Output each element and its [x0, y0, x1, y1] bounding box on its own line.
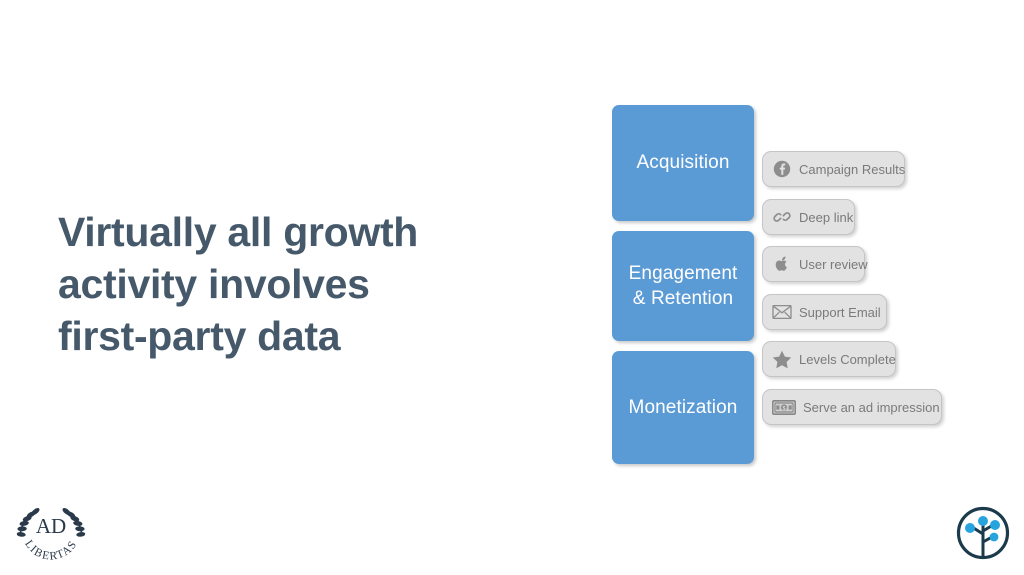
link-icon [772, 207, 792, 227]
stage-label-engagement-line-1: Engagement [629, 261, 738, 286]
envelope-icon [772, 302, 792, 322]
ad-libertas-wordmark-bottom: LIBERTAS [22, 538, 80, 562]
event-pill-label-support-email: Support Email [799, 306, 881, 319]
event-pill-levels-complete: Levels Complete [762, 341, 896, 377]
ad-libertas-logo: AD LIBERTAS [10, 500, 92, 564]
star-icon [772, 349, 792, 369]
event-pill-deep-link: Deep link [762, 199, 855, 235]
apple-icon [772, 254, 792, 274]
stage-box-monetization: Monetization [612, 351, 754, 464]
ad-libertas-wordmark-top: AD [36, 514, 66, 538]
event-pill-campaign-results: Campaign Results [762, 151, 905, 187]
tree-node-top [978, 516, 988, 526]
tree-node-left [965, 523, 975, 533]
event-pill-label-ad-impression: Serve an ad impression [803, 401, 940, 414]
growth-funnel-diagram: Acquisition Engagement & Retention Monet… [0, 0, 1024, 575]
event-pill-user-review: User review [762, 246, 865, 282]
facebook-icon [772, 159, 792, 179]
event-pill-label-levels-complete: Levels Complete [799, 353, 896, 366]
event-pill-support-email: Support Email [762, 294, 887, 330]
event-pill-label-deep-link: Deep link [799, 211, 853, 224]
event-pill-label-user-review: User review [799, 258, 868, 271]
stage-box-acquisition: Acquisition [612, 105, 754, 221]
event-pill-ad-impression: $ Serve an ad impression [762, 389, 942, 425]
stage-box-engagement: Engagement & Retention [612, 231, 754, 341]
stage-label-acquisition: Acquisition [637, 150, 730, 175]
banknote-icon: $ [772, 397, 796, 417]
svg-text:$: $ [783, 406, 786, 412]
tree-mark-logo [954, 504, 1012, 562]
event-pill-label-campaign-results: Campaign Results [799, 163, 905, 176]
stage-label-monetization: Monetization [629, 395, 738, 420]
stage-label-engagement-line-2: & Retention [629, 286, 738, 311]
stage-label-engagement: Engagement & Retention [629, 261, 738, 311]
tree-node-right-lower [990, 533, 999, 542]
tree-node-right-upper [990, 520, 1000, 530]
